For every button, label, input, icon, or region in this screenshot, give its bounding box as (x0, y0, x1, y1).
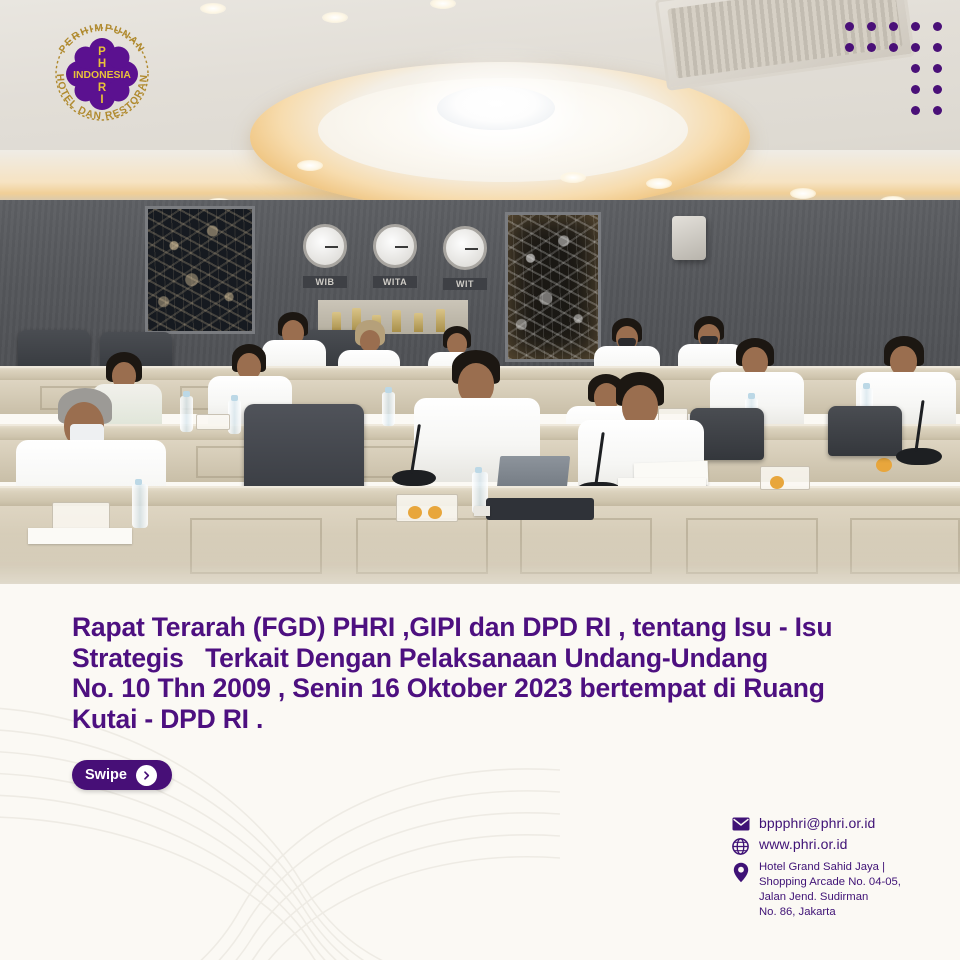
logo-letter-h: H (98, 58, 106, 70)
grid-dot (911, 85, 920, 94)
headline-line-4: Kutai - DPD RI . (72, 704, 902, 735)
globe-icon (731, 836, 750, 855)
documents (28, 528, 132, 544)
grid-dot (933, 22, 942, 31)
desk-trim (850, 518, 960, 574)
swipe-button-label: Swipe (85, 768, 127, 783)
snack-box (760, 466, 810, 490)
contact-email-row[interactable]: bppphri@phri.or.id (731, 815, 953, 831)
contact-website-text: www.phri.or.id (759, 836, 848, 852)
address-line-1: Hotel Grand Sahid Jaya | (759, 861, 885, 873)
ceiling-light-fixture (437, 86, 555, 130)
address-line-4: No. 86, Jakarta (759, 906, 836, 918)
water-bottle (132, 484, 148, 528)
grid-dot (889, 22, 898, 31)
clock-label-wib: WIB (303, 276, 347, 288)
document-edge (474, 506, 490, 516)
swipe-button[interactable]: Swipe (72, 760, 172, 790)
downlight-icon (297, 160, 323, 171)
downlight-icon (790, 188, 816, 199)
poster-canvas: WIB WITA WIT (0, 0, 960, 960)
water-bottle (382, 392, 395, 426)
contact-address-row: Hotel Grand Sahid Jaya | Shopping Arcade… (731, 860, 953, 920)
grid-dot (911, 106, 920, 115)
carved-wall-panel-left (145, 206, 255, 334)
grid-dot (867, 22, 876, 31)
grid-dot (889, 43, 898, 52)
grid-dot (911, 43, 920, 52)
page-title: Rapat Terarah (FGD) PHRI ,GIPI dan DPD R… (72, 612, 902, 734)
contact-info: bppphri@phri.or.id www.phri.or.id (731, 815, 953, 925)
address-line-3: Jalan Jend. Sudirman (759, 891, 868, 903)
contact-website-row[interactable]: www.phri.or.id (731, 836, 953, 855)
snack-box (396, 494, 458, 522)
downlight-icon (646, 178, 672, 189)
clock-label-wita: WITA (373, 276, 417, 288)
trophy (392, 310, 401, 332)
microphone-base (896, 448, 942, 465)
grid-dot (911, 22, 920, 31)
orange-fruit (876, 458, 892, 472)
trophy (332, 312, 341, 332)
desk-trim (190, 518, 322, 574)
phri-logo: PERHIMPUNAN HOTEL DAN RESTORAN P H R I I… (46, 18, 158, 130)
chevron-right-icon (136, 765, 157, 786)
downlight-icon (560, 172, 586, 183)
downlight-icon (322, 12, 348, 23)
snack-box (52, 502, 110, 530)
downlight-icon (200, 3, 226, 14)
snack-box (196, 414, 230, 430)
logo-letter-p: P (98, 46, 106, 58)
microphone-base (392, 470, 436, 486)
orange-fruit (428, 506, 442, 519)
wall-clock-wib (303, 224, 347, 268)
logo-letter-i: I (100, 94, 103, 106)
carved-wall-panel-right (505, 212, 601, 362)
desk-trim (686, 518, 818, 574)
headline-line-3: No. 10 Thn 2009 , Senin 16 Oktober 2023 … (72, 673, 902, 704)
clock-label-wit: WIT (443, 278, 487, 290)
wall-speaker (672, 216, 706, 260)
trophy (414, 313, 423, 332)
envelope-icon (731, 815, 750, 831)
grid-dot (933, 85, 942, 94)
logo-letter-r: R (98, 82, 107, 94)
orange-fruit (408, 506, 422, 519)
desk-trim (520, 518, 652, 574)
grid-dot (911, 64, 920, 73)
headline-line-1: Rapat Terarah (FGD) PHRI ,GIPI dan DPD R… (72, 612, 902, 643)
wall-clock-wita (373, 224, 417, 268)
address-line-2: Shopping Arcade No. 04-05, (759, 876, 901, 888)
grid-dot (933, 106, 942, 115)
map-pin-icon (731, 860, 750, 883)
contact-address-text: Hotel Grand Sahid Jaya | Shopping Arcade… (759, 860, 901, 920)
desk-trim (356, 518, 488, 574)
water-bottle (180, 396, 193, 432)
wall-clock-wit (443, 226, 487, 270)
chair (828, 406, 902, 456)
laptop-closed (486, 498, 594, 520)
headline-line-2: Strategis Terkait Dengan Pelaksanaan Und… (72, 643, 902, 674)
contact-email-text: bppphri@phri.or.id (759, 815, 875, 831)
orange-fruit (770, 476, 784, 489)
logo-center-text: INDONESIA (73, 70, 131, 81)
grid-dot (845, 22, 854, 31)
grid-dot (845, 43, 854, 52)
grid-dot (933, 43, 942, 52)
trophy (436, 309, 445, 332)
grid-dot (933, 64, 942, 73)
dot-grid (845, 22, 945, 114)
grid-dot (867, 43, 876, 52)
